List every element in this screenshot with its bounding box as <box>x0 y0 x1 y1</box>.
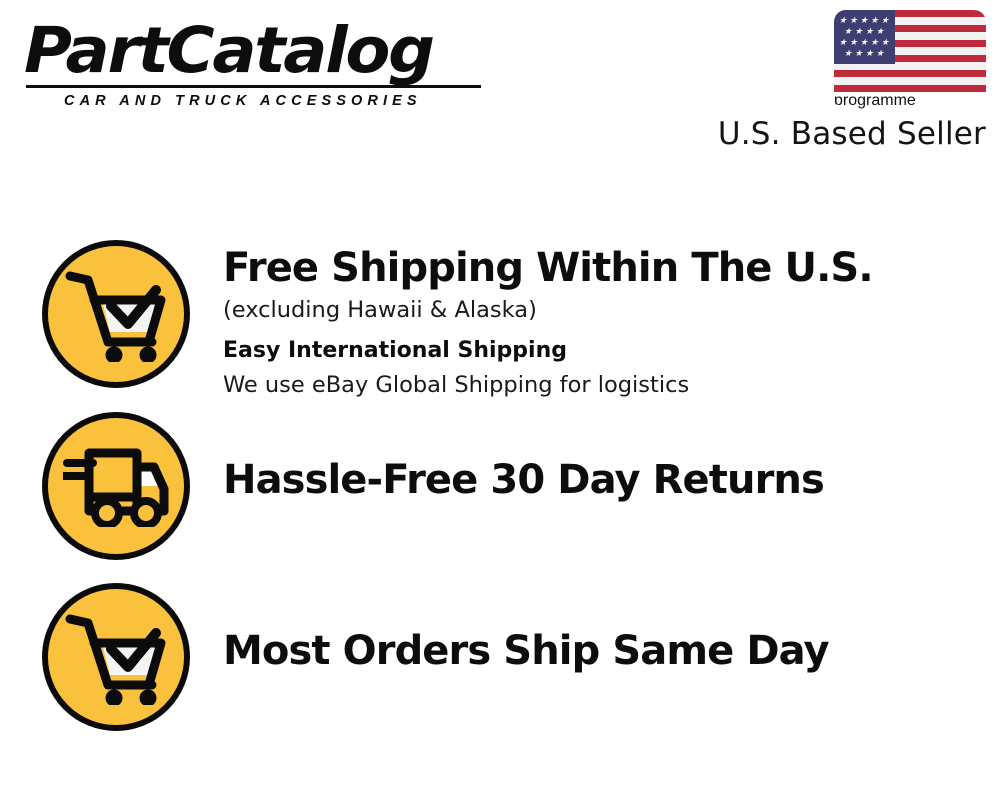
brand-logo[interactable]: PartCatalog CAR AND TRUCK ACCESSORIES <box>24 18 494 109</box>
brand-wordmark: PartCatalog <box>24 18 513 84</box>
seller-label: U.S. Based Seller <box>718 116 986 152</box>
feature-title: Most Orders Ship Same Day <box>223 627 1000 675</box>
feature-title: Free Shipping Within The U.S. <box>223 244 1000 292</box>
seller-badge: programme U.S. Based Seller <box>716 10 986 152</box>
page-header: PartCatalog CAR AND TRUCK ACCESSORIES pr… <box>0 0 1000 175</box>
feature-sub-detail: We use eBay Global Shipping for logistic… <box>223 369 1000 401</box>
shopping-cart-check-icon <box>42 583 190 731</box>
feature-subtitle: (excluding Hawaii & Alaska) <box>223 294 1000 326</box>
feature-row: Free Shipping Within The U.S. (excluding… <box>0 240 1000 401</box>
feature-row: Most Orders Ship Same Day <box>0 583 1000 731</box>
feature-text-block: Free Shipping Within The U.S. (excluding… <box>223 240 1000 401</box>
flag-canton <box>834 10 895 64</box>
brand-tagline: CAR AND TRUCK ACCESSORIES <box>64 93 494 109</box>
us-flag-icon: programme <box>834 10 986 110</box>
feature-text-block: Hassle-Free 30 Day Returns <box>223 412 1000 504</box>
feature-title: Hassle-Free 30 Day Returns <box>223 456 1000 504</box>
shopping-cart-check-icon <box>42 240 190 388</box>
delivery-truck-icon <box>42 412 190 560</box>
feature-row: Hassle-Free 30 Day Returns <box>0 412 1000 560</box>
feature-text-block: Most Orders Ship Same Day <box>223 583 1000 675</box>
feature-sub-heading: Easy International Shipping <box>223 335 1000 367</box>
